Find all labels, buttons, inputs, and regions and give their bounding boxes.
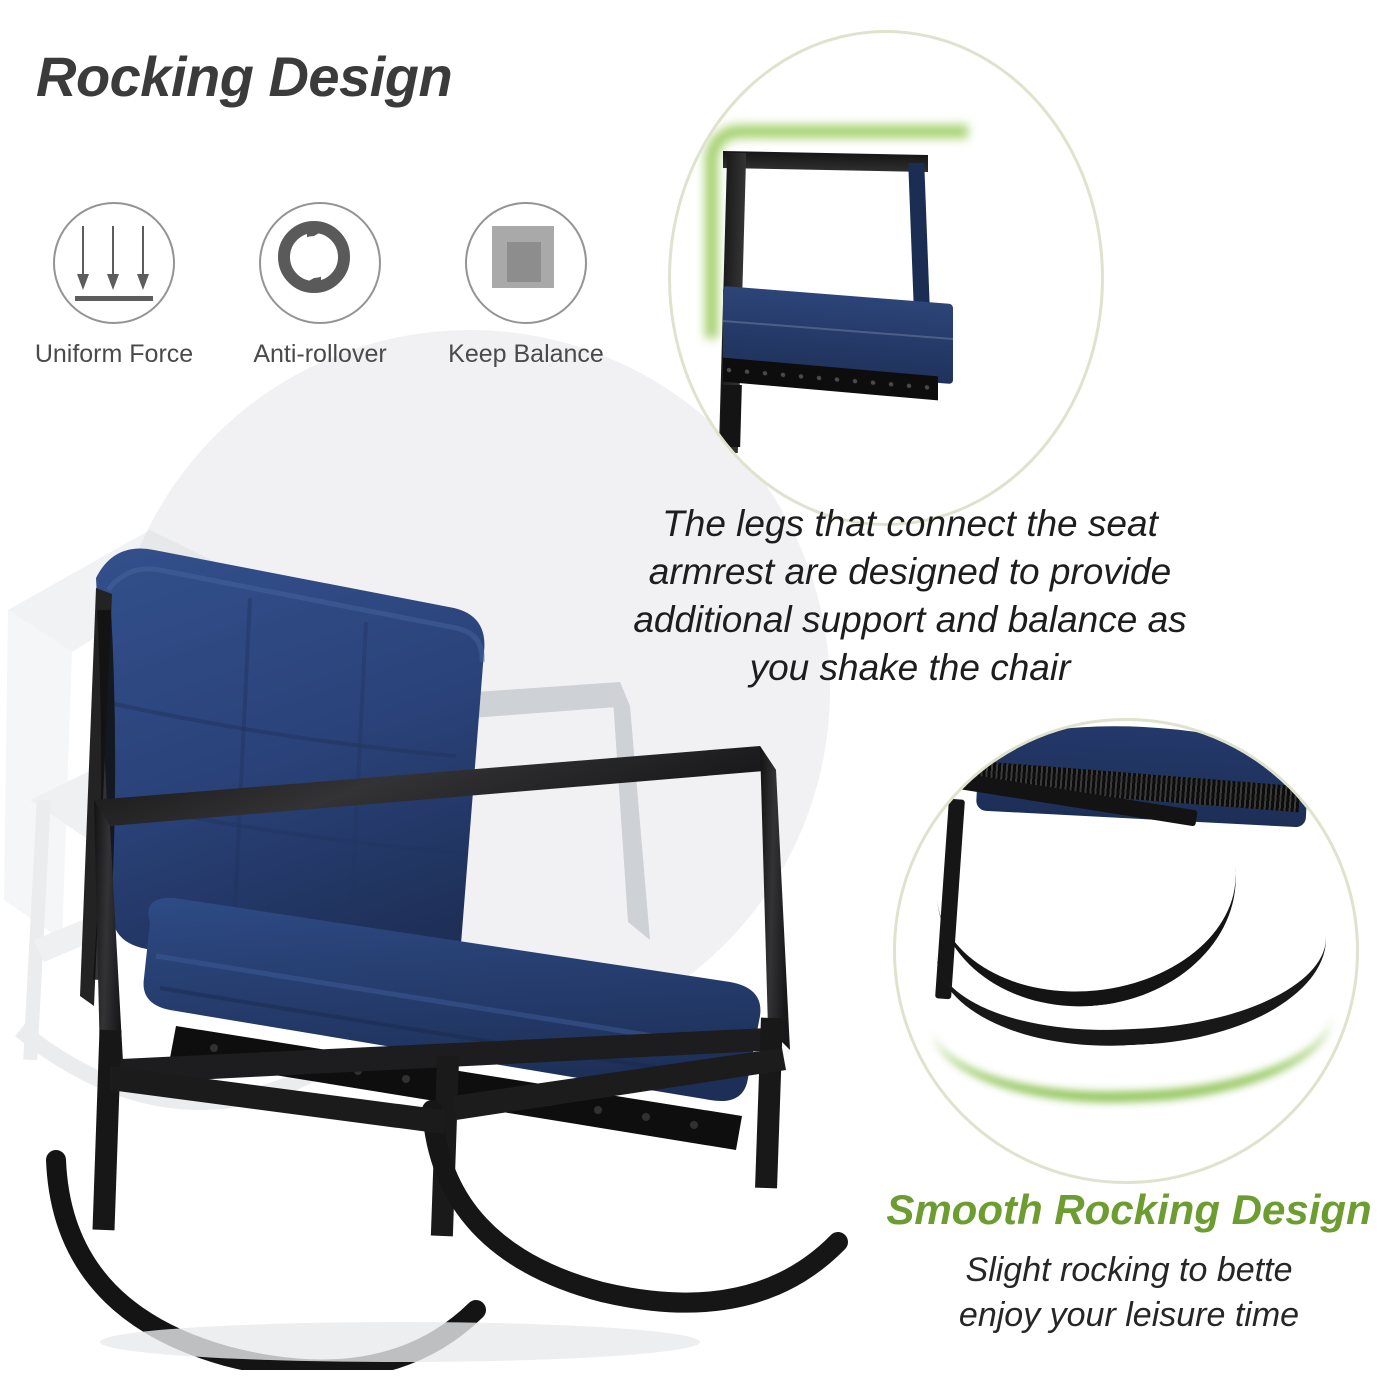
nested-squares-icon xyxy=(465,202,587,324)
green-arc-swoosh-icon xyxy=(929,924,1335,1109)
product-photo-rocking-chair xyxy=(0,470,880,1370)
feature-anti-rollover: Anti-rollover xyxy=(220,202,420,369)
feature-label: Keep Balance xyxy=(426,340,626,369)
feature-uniform-force: Uniform Force xyxy=(14,202,214,369)
inset-rocker-rail xyxy=(893,718,1363,1188)
smooth-rocking-subtitle: Slight rocking to bette enjoy your leisu… xyxy=(862,1248,1396,1338)
infographic-canvas: Rocking Design Uniform Force xyxy=(0,0,1396,1396)
page-title: Rocking Design xyxy=(36,44,452,109)
feature-label: Anti-rollover xyxy=(220,340,420,369)
feature-icon-row: Uniform Force Anti-rollover xyxy=(14,202,624,392)
subtitle-line-1: Slight rocking to bette xyxy=(862,1248,1396,1293)
subtitle-line-2: enjoy your leisure time xyxy=(862,1293,1396,1338)
downward-arrows-on-bar-icon xyxy=(53,202,175,324)
floor-shadow xyxy=(100,1322,700,1362)
front-leg-left xyxy=(93,1030,122,1231)
circular-rotation-arrows-icon xyxy=(259,202,381,324)
feature-label: Uniform Force xyxy=(14,340,214,369)
inset-armrest-leg-joint xyxy=(668,30,1108,530)
feature-keep-balance: Keep Balance xyxy=(426,202,626,369)
smooth-rocking-title: Smooth Rocking Design xyxy=(862,1186,1396,1234)
